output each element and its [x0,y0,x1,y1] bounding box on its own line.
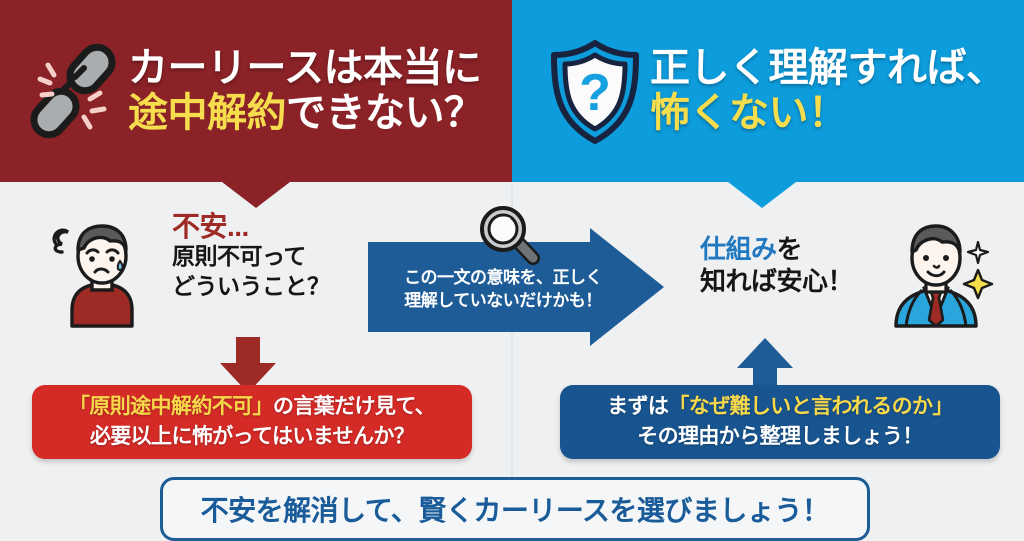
shield-question-icon: ? [540,31,650,151]
left-callout-line2: 必要以上に怖がってはいませんか？ [90,422,414,452]
anxious-label: 不安... [172,212,382,242]
right-callout-box: まずは「なぜ難しいと言われるのか」 その理由から整理しましょう！ [560,385,1000,459]
header-left-line1: カーリースは本当に [128,47,484,90]
left-body-line1: 原則不可って [172,242,382,271]
broken-chain-icon [18,31,128,151]
magnifying-glass-icon [476,204,542,266]
center-line2: 理解していないだけかも！ [378,289,628,312]
svg-text:?: ? [579,64,611,122]
infographic-canvas: カーリースは本当に 途中解約できない？ ? 正しく理解すれば、 怖くない！ [0,0,1024,541]
header-band: カーリースは本当に 途中解約できない？ ? 正しく理解すれば、 怖くない！ [0,0,1024,182]
center-arrow-text: この一文の意味を、正しく 理解していないだけかも！ [378,266,628,312]
header-left-red: カーリースは本当に 途中解約できない？ [0,0,512,182]
right-callout-highlight: 「なぜ難しいと言われるのか」 [668,395,953,418]
header-right-blue: ? 正しく理解すれば、 怖くない！ [512,0,1024,182]
center-right-arrow: この一文の意味を、正しく 理解していないだけかも！ [368,228,664,346]
confident-businessman-icon [872,214,1000,342]
header-right-line2: 怖くない！ [650,92,1006,135]
header-right-text: 正しく理解すれば、 怖くない！ [650,47,1006,135]
header-left-line2-rest: できない？ [286,91,484,135]
left-callout-box: 「原則途中解約不可」の言葉だけ見て、 必要以上に怖がってはいませんか？ [32,385,472,459]
bottom-banner-text: 不安を解消して、賢くカーリースを選びましょう！ [201,489,830,529]
header-left-highlight: 途中解約 [128,91,286,135]
left-callout-highlight: 「原則途中解約不可」 [69,395,273,418]
left-callout-line1: 「原則途中解約不可」の言葉だけ見て、 [69,392,435,422]
center-line1: この一文の意味を、正しく [378,266,628,289]
left-body-line2: どういうこと？ [172,272,382,301]
header-right-notch [728,182,796,208]
bottom-banner: 不安を解消して、賢くカーリースを選びましょう！ [160,477,870,541]
worried-person-icon [40,214,164,342]
header-left-line2: 途中解約できない？ [128,92,484,135]
right-headline-highlight: 仕組み [700,234,777,264]
right-headline-rest: を [777,234,803,264]
left-text-block: 不安... 原則不可って どういうこと？ [172,212,382,301]
right-callout-line2: その理由から整理しましょう！ [637,422,923,452]
header-left-text: カーリースは本当に 途中解約できない？ [128,47,484,135]
header-right-line1: 正しく理解すれば、 [650,47,1006,90]
right-callout-line1: まずは「なぜ難しいと言われるのか」 [607,392,953,422]
left-callout-line1-rest: の言葉だけ見て、 [273,395,435,418]
right-callout-line1-rest: まずは [607,395,668,418]
header-left-notch [222,182,290,208]
